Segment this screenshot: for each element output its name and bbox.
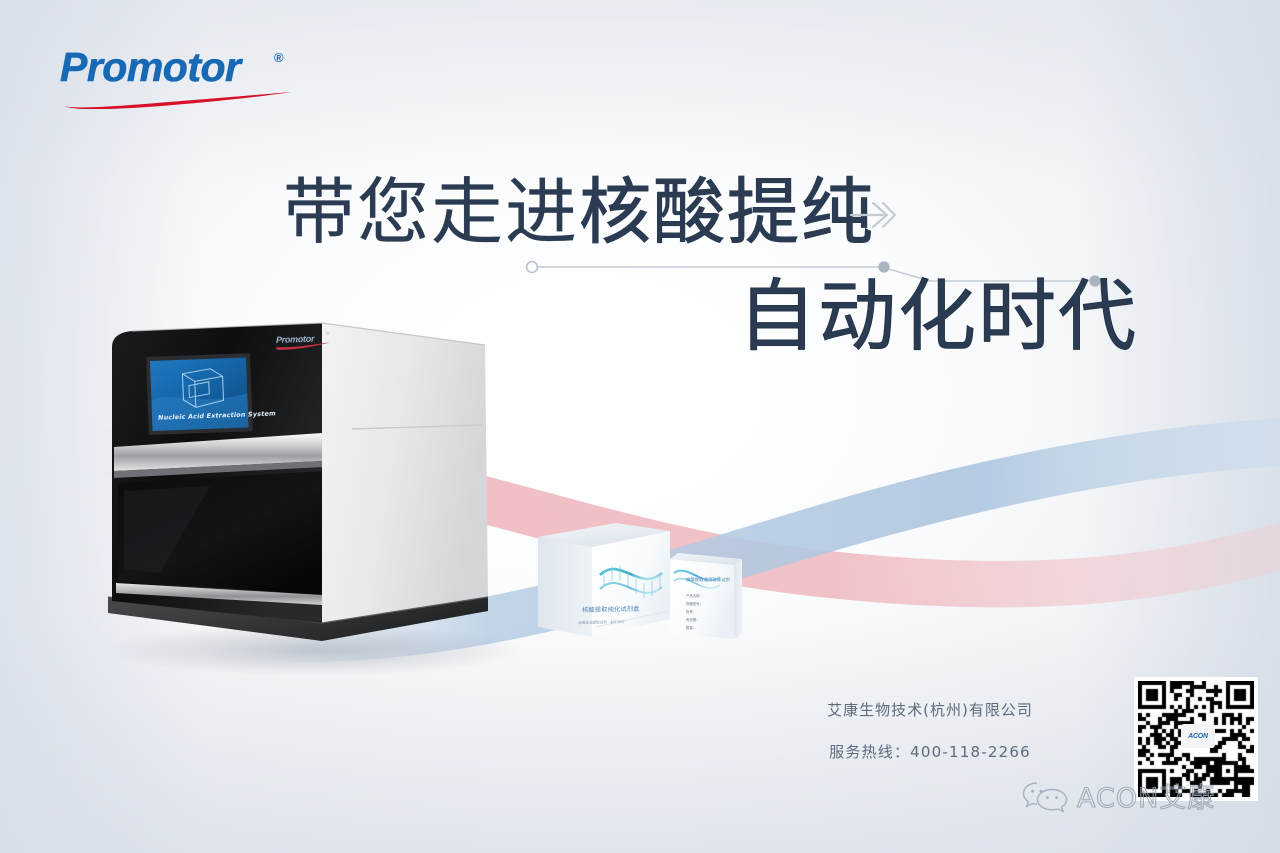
wechat-icon bbox=[1022, 779, 1068, 813]
company-name: 艾康生物技术(杭州)有限公司 bbox=[780, 702, 1080, 719]
connector-node-hollow bbox=[527, 262, 538, 273]
kit-spec-line: 数量： bbox=[686, 625, 696, 630]
svg-text:Promotor: Promotor bbox=[276, 334, 315, 345]
kit-small-title: 核酸提取通用磁珠试剂 bbox=[686, 577, 730, 583]
qr-center-logo: ACON bbox=[1181, 724, 1215, 748]
double-chevron-right-icon bbox=[845, 192, 901, 238]
wechat-badge: ACON艾康 bbox=[1022, 776, 1215, 815]
kit-large-title: 核酸提取纯化试剂盒 bbox=[582, 604, 640, 614]
svg-text:®: ® bbox=[326, 330, 330, 337]
connector-node-filled-1 bbox=[878, 261, 889, 272]
qr-center-logo-text: ACON bbox=[1188, 733, 1208, 740]
headline-line-2: 自动化时代 bbox=[738, 278, 1138, 356]
poster-canvas: Promotor ® 带您走进核酸提纯 自动化时代 bbox=[0, 0, 1280, 853]
kit-spec-line: 有效期： bbox=[686, 617, 700, 622]
headline-line-1: 带您走进核酸提纯 bbox=[283, 176, 875, 248]
kit-spec-line: 规格型号： bbox=[686, 601, 703, 606]
extraction-instrument-image: Nucleic Acid Extraction System Promotor … bbox=[90, 305, 550, 675]
kit-box-small bbox=[670, 553, 742, 639]
headline-line-1-thin: 带您走进 bbox=[283, 170, 579, 254]
wechat-account-name: ACON艾康 bbox=[1077, 776, 1215, 815]
service-hotline: 服务热线：400-118-2266 bbox=[780, 741, 1080, 762]
contact-block: 艾康生物技术(杭州)有限公司 服务热线：400-118-2266 bbox=[780, 702, 1080, 762]
headline-line-1-bold: 核酸提纯 bbox=[579, 170, 875, 254]
kit-spec-line: 批号： bbox=[686, 609, 696, 614]
reagent-kit-boxes: 核酸提取纯化试剂盒 含磁珠法提取试剂 · 48T/96T 核酸提取通用磁珠试剂 … bbox=[520, 515, 780, 655]
kit-spec-line: 产品名称： bbox=[686, 593, 703, 598]
instrument-side-panel bbox=[322, 323, 488, 623]
kit-large-subtitle: 含磁珠法提取试剂 · 48T/96T bbox=[578, 620, 625, 626]
kit-boxes-illustration bbox=[520, 515, 780, 655]
